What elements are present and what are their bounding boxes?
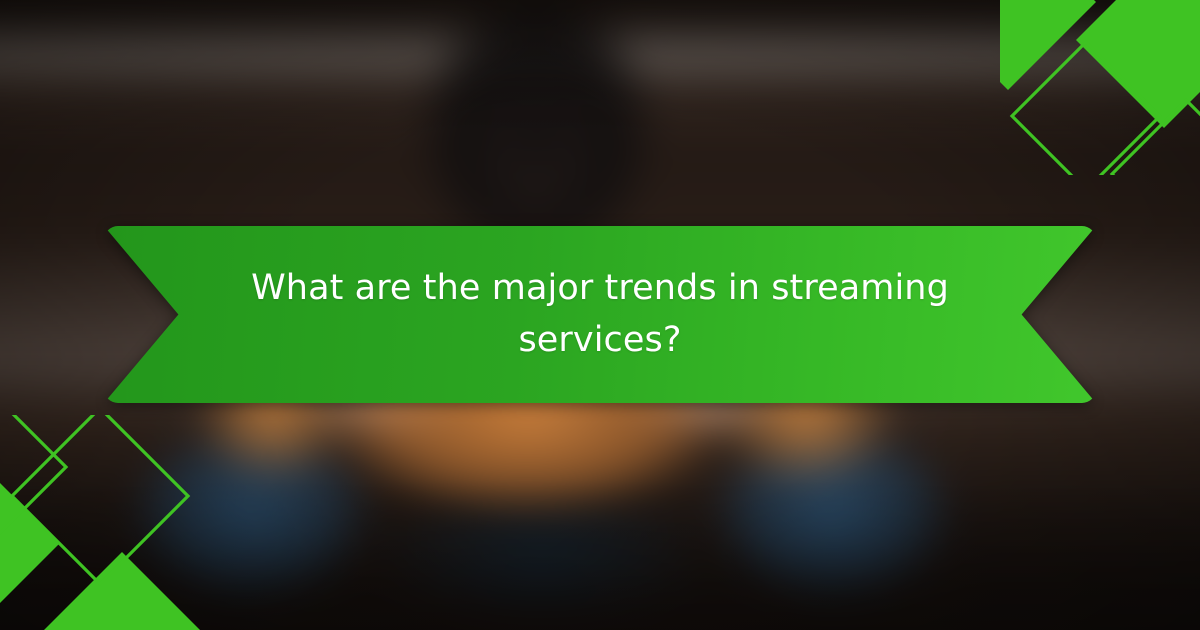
headline-text: What are the major trends in streaming s… [104, 226, 1096, 403]
bottom-left-decoration-svg [0, 415, 225, 630]
filled-diamond-icon [1076, 0, 1200, 128]
diamond-cluster-bottom-left [0, 415, 225, 630]
diamond-cluster-top-right [1000, 0, 1200, 175]
top-right-decoration-svg [1000, 0, 1200, 175]
social-share-card: What are the major trends in streaming s… [0, 0, 1200, 630]
headline-ribbon: What are the major trends in streaming s… [104, 226, 1096, 403]
